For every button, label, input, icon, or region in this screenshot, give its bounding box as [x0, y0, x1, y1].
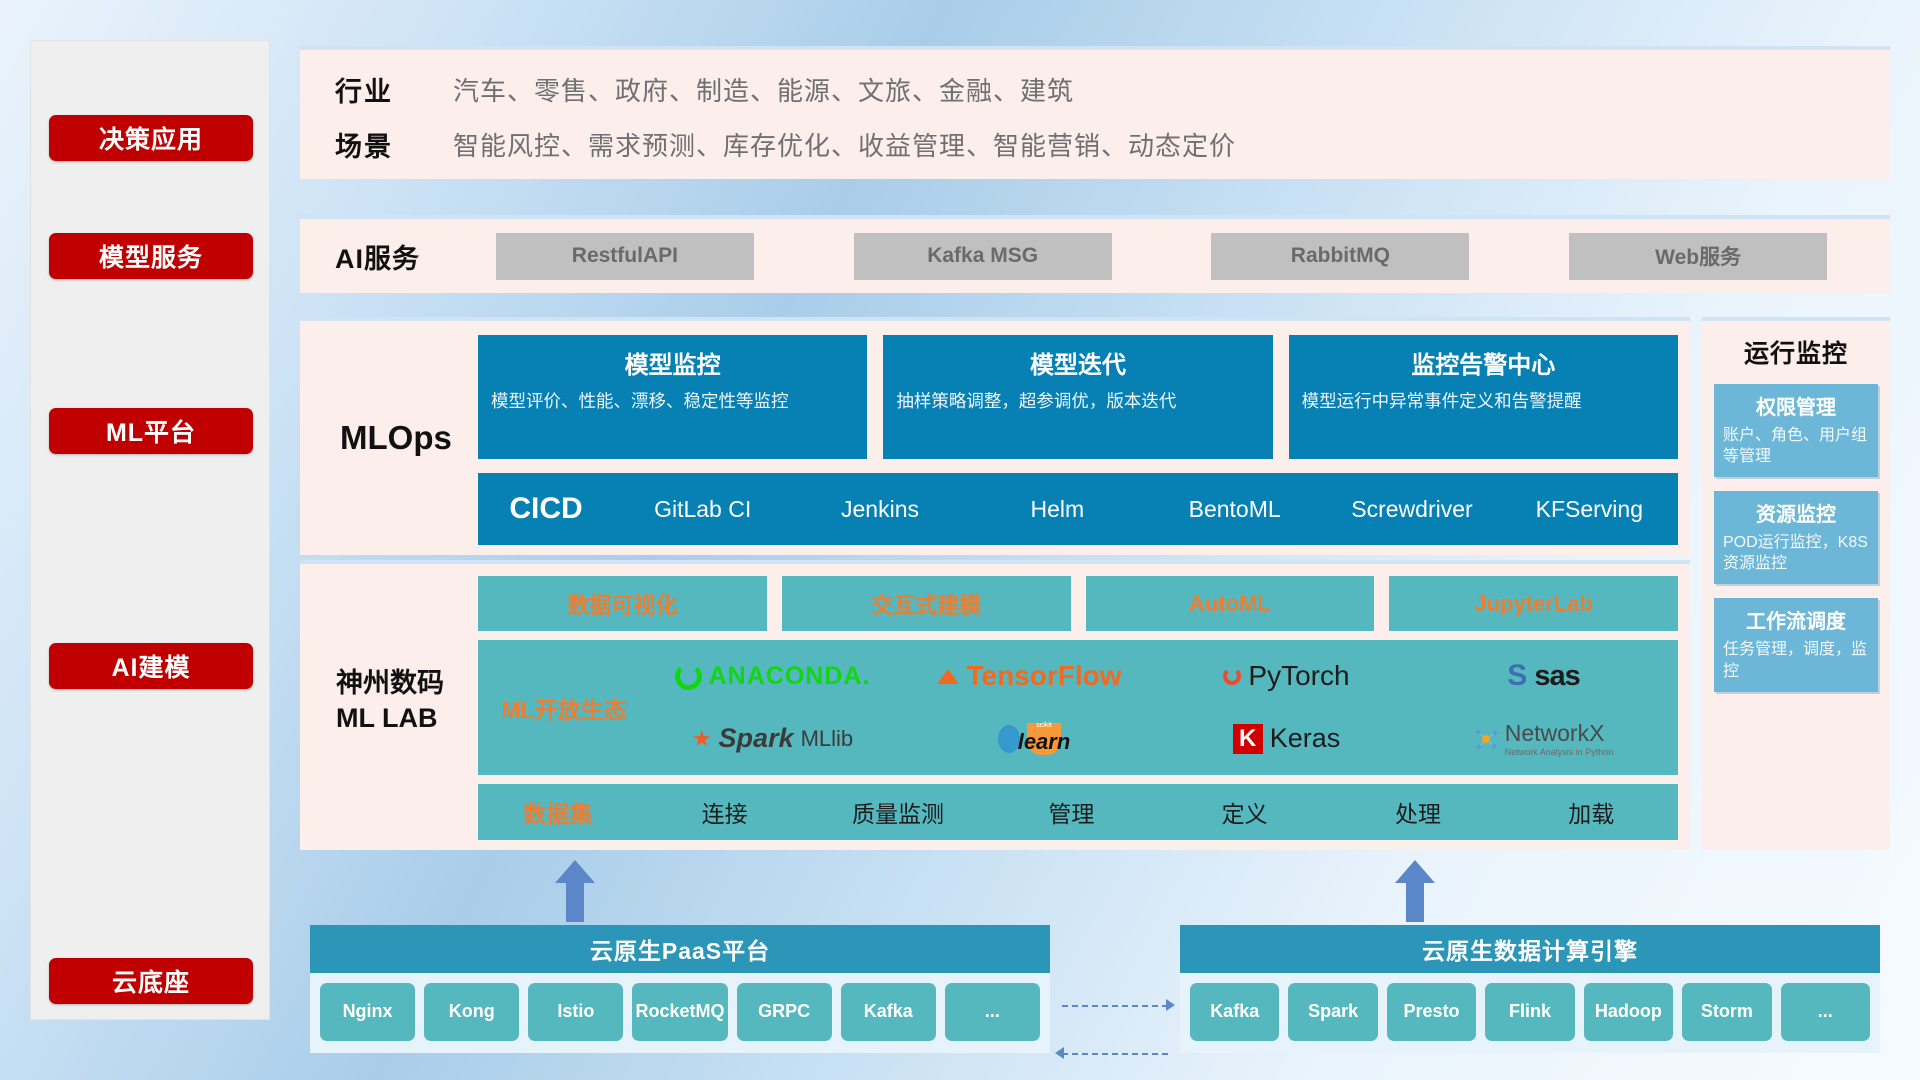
monitoring-card-permission[interactable]: 权限管理 账户、角色、用户组等管理: [1714, 384, 1878, 477]
keras-logo: K Keras: [1158, 723, 1415, 754]
anaconda-ring-icon: [675, 663, 702, 690]
pytorch-label: PyTorch: [1248, 660, 1349, 692]
dataset-item-connect[interactable]: 连接: [638, 795, 811, 829]
networkx-logo: NetworkX Network Analysis in Python: [1415, 720, 1672, 757]
sas-label: sas: [1534, 660, 1579, 693]
service-button-web[interactable]: Web服务: [1569, 233, 1827, 280]
scikit-learn-logo: scikit learn: [901, 723, 1158, 755]
ml-lab-label-line2: ML LAB: [336, 701, 444, 736]
tensorflow-label: TensorFlow: [966, 660, 1121, 692]
dataset-title: 数据集: [478, 795, 638, 829]
card-desc: 任务管理，调度，监控: [1723, 639, 1869, 681]
card-title: 模型监控: [491, 345, 854, 380]
paas-item-rocketmq[interactable]: RocketMQ: [632, 983, 727, 1041]
card-title: 权限管理: [1723, 391, 1869, 420]
arrow-up-compute-icon: [1395, 860, 1435, 922]
compute-item-flink[interactable]: Flink: [1485, 983, 1574, 1041]
card-title: 监控告警中心: [1302, 345, 1665, 380]
spark-mllib-logo: ★ Spark MLlib: [644, 723, 901, 754]
ai-service-buttons: RestfulAPI Kafka MSG RabbitMQ Web服务: [453, 233, 1890, 280]
tab-automl[interactable]: AutoML: [1086, 576, 1375, 631]
monitoring-card-workflow[interactable]: 工作流调度 任务管理，调度，监控: [1714, 598, 1878, 691]
networkx-sublabel: Network Analysis in Python: [1505, 747, 1614, 757]
scikit-small-label: scikit: [1036, 722, 1052, 729]
tab-interactive-modeling[interactable]: 交互式建模: [782, 576, 1071, 631]
scenario-value: 智能风控、需求预测、库存优化、收益管理、智能营销、动态定价: [453, 126, 1236, 163]
rail-item-model-service[interactable]: 模型服务: [49, 233, 253, 279]
networkx-graph-icon: [1474, 727, 1498, 751]
link-arrow-right-head-icon: [1166, 999, 1175, 1011]
anaconda-logo: ANACONDA.: [644, 662, 901, 691]
industry-scenario-panel: 行业 汽车、零售、政府、制造、能源、文旅、金融、建筑 场景 智能风控、需求预测、…: [300, 46, 1890, 179]
scikit-learn-label: learn: [1018, 729, 1071, 755]
service-button-kafka-msg[interactable]: Kafka MSG: [854, 233, 1112, 280]
architecture-diagram: 决策应用 模型服务 ML平台 AI建模 云底座 行业 汽车、零售、政府、制造、能…: [0, 0, 1920, 1080]
card-desc: 抽样策略调整，超参调优，版本迭代: [896, 389, 1259, 413]
anaconda-label: ANACONDA.: [709, 662, 871, 691]
card-desc: 模型运行中异常事件定义和告警提醒: [1302, 389, 1665, 413]
cicd-item-kfserving[interactable]: KFServing: [1501, 497, 1678, 521]
monitoring-title: 运行监控: [1702, 334, 1890, 370]
paas-item-kong[interactable]: Kong: [424, 983, 519, 1041]
rail-item-cloud-base[interactable]: 云底座: [49, 958, 253, 1004]
paas-item-grpc[interactable]: GRPC: [737, 983, 832, 1041]
paas-platform-title: 云原生PaaS平台: [310, 925, 1050, 973]
cicd-item-screwdriver[interactable]: Screwdriver: [1323, 497, 1500, 521]
arrow-up-paas-icon: [555, 860, 595, 922]
sas-swoosh-icon: S: [1507, 659, 1527, 693]
ml-ecosystem-label: ML开放生态: [484, 645, 644, 770]
link-arrow-left: [1062, 1053, 1168, 1055]
mllib-label: MLlib: [801, 726, 854, 752]
compute-item-hadoop[interactable]: Hadoop: [1584, 983, 1673, 1041]
scenario-label: 场景: [335, 125, 453, 164]
spark-star-icon: ★: [692, 726, 712, 752]
runtime-monitoring-panel: 运行监控 权限管理 账户、角色、用户组等管理 资源监控 POD运行监控，K8S资…: [1702, 317, 1890, 850]
paas-item-more[interactable]: ...: [945, 983, 1040, 1041]
mlops-label: MLOps: [340, 419, 452, 457]
cicd-item-helm[interactable]: Helm: [969, 497, 1146, 521]
industry-value: 汽车、零售、政府、制造、能源、文旅、金融、建筑: [453, 71, 1074, 108]
card-desc: 模型评价、性能、漂移、稳定性等监控: [491, 389, 854, 413]
dataset-item-load[interactable]: 加载: [1505, 795, 1678, 829]
dataset-item-quality[interactable]: 质量监测: [811, 795, 984, 829]
scikit-blue-icon: [998, 725, 1020, 753]
mlops-card-model-iteration[interactable]: 模型迭代 抽样策略调整，超参调优，版本迭代: [883, 335, 1272, 459]
ml-lab-content: 数据可视化 交互式建模 AutoML JupyterLab ML开放生态 ANA…: [478, 576, 1678, 840]
service-button-rabbitmq[interactable]: RabbitMQ: [1211, 233, 1469, 280]
compute-item-spark[interactable]: Spark: [1288, 983, 1377, 1041]
mlops-card-model-monitoring[interactable]: 模型监控 模型评价、性能、漂移、稳定性等监控: [478, 335, 867, 459]
data-compute-title: 云原生数据计算引擎: [1180, 925, 1880, 973]
dataset-item-process[interactable]: 处理: [1331, 795, 1504, 829]
pytorch-logo: PyTorch: [1158, 660, 1415, 692]
card-title: 工作流调度: [1723, 605, 1869, 634]
paas-item-nginx[interactable]: Nginx: [320, 983, 415, 1041]
paas-item-kafka[interactable]: Kafka: [841, 983, 936, 1041]
cicd-item-list: GitLab CI Jenkins Helm BentoML Screwdriv…: [614, 497, 1678, 521]
pytorch-flame-icon: [1223, 667, 1241, 685]
card-title: 模型迭代: [896, 345, 1259, 380]
data-compute-block: 云原生数据计算引擎 Kafka Spark Presto Flink Hadoo…: [1180, 925, 1880, 1053]
spark-label: Spark: [719, 723, 794, 754]
ml-lab-tabs: 数据可视化 交互式建模 AutoML JupyterLab: [478, 576, 1678, 631]
monitoring-card-resource[interactable]: 资源监控 POD运行监控，K8S资源监控: [1714, 491, 1878, 584]
dataset-bar: 数据集 连接 质量监测 管理 定义 处理 加载: [478, 784, 1678, 840]
left-rail: 决策应用 模型服务 ML平台 AI建模 云底座: [30, 40, 270, 1020]
service-button-restfulapi[interactable]: RestfulAPI: [496, 233, 754, 280]
cicd-item-gitlab-ci[interactable]: GitLab CI: [614, 497, 791, 521]
compute-item-storm[interactable]: Storm: [1682, 983, 1771, 1041]
ml-ecosystem-logos: ANACONDA. TensorFlow PyTorch S sas: [644, 645, 1672, 770]
card-title: 资源监控: [1723, 498, 1869, 527]
rail-item-ml-platform[interactable]: ML平台: [49, 408, 253, 454]
ai-service-label: AI服务: [335, 237, 453, 276]
cicd-bar: CICD GitLab CI Jenkins Helm BentoML Scre…: [478, 473, 1678, 545]
mlops-card-list: 模型监控 模型评价、性能、漂移、稳定性等监控 模型迭代 抽样策略调整，超参调优，…: [478, 335, 1678, 459]
ml-lab-label-line1: 神州数码: [336, 666, 444, 701]
ai-service-panel: AI服务 RestfulAPI Kafka MSG RabbitMQ Web服务: [300, 215, 1890, 293]
cicd-title: CICD: [478, 492, 614, 526]
dataset-item-list: 连接 质量监测 管理 定义 处理 加载: [638, 795, 1678, 829]
tab-jupyterlab[interactable]: JupyterLab: [1389, 576, 1678, 631]
mlops-panel: MLOps 模型监控 模型评价、性能、漂移、稳定性等监控 模型迭代 抽样策略调整…: [300, 317, 1690, 555]
cicd-item-jenkins[interactable]: Jenkins: [791, 497, 968, 521]
keras-label: Keras: [1270, 723, 1341, 754]
tensorflow-logo: TensorFlow: [901, 660, 1158, 692]
mlops-card-alert-center[interactable]: 监控告警中心 模型运行中异常事件定义和告警提醒: [1289, 335, 1678, 459]
rail-item-decision-app[interactable]: 决策应用: [49, 115, 253, 161]
compute-item-presto[interactable]: Presto: [1387, 983, 1476, 1041]
cicd-item-bentoml[interactable]: BentoML: [1146, 497, 1323, 521]
card-desc: 账户、角色、用户组等管理: [1723, 425, 1869, 467]
sas-logo: S sas: [1415, 659, 1672, 693]
link-arrow-left-head-icon: [1055, 1047, 1064, 1059]
tensorflow-arrow-icon: [937, 669, 959, 684]
rail-item-ai-modeling[interactable]: AI建模: [49, 643, 253, 689]
networkx-label: NetworkX: [1505, 720, 1614, 747]
compute-item-kafka[interactable]: Kafka: [1190, 983, 1279, 1041]
industry-row: 行业 汽车、零售、政府、制造、能源、文旅、金融、建筑: [335, 70, 1074, 109]
tab-data-visualization[interactable]: 数据可视化: [478, 576, 767, 631]
card-desc: POD运行监控，K8S资源监控: [1723, 532, 1869, 574]
ml-lab-panel: 神州数码 ML LAB 数据可视化 交互式建模 AutoML JupyterLa…: [300, 560, 1690, 850]
compute-item-more[interactable]: ...: [1781, 983, 1870, 1041]
paas-platform-block: 云原生PaaS平台 Nginx Kong Istio RocketMQ GRPC…: [310, 925, 1050, 1053]
ml-ecosystem: ML开放生态 ANACONDA. TensorFlow PyTorch: [478, 640, 1678, 775]
cloud-base-section: 云原生PaaS平台 Nginx Kong Istio RocketMQ GRPC…: [300, 860, 1890, 1060]
ml-lab-label: 神州数码 ML LAB: [336, 666, 444, 735]
keras-k-icon: K: [1233, 724, 1263, 754]
paas-item-istio[interactable]: Istio: [528, 983, 623, 1041]
data-compute-items: Kafka Spark Presto Flink Hadoop Storm ..…: [1180, 973, 1880, 1053]
dataset-item-manage[interactable]: 管理: [985, 795, 1158, 829]
scenario-row: 场景 智能风控、需求预测、库存优化、收益管理、智能营销、动态定价: [335, 125, 1236, 164]
scikit-orange-icon: scikit learn: [1027, 723, 1061, 755]
paas-platform-items: Nginx Kong Istio RocketMQ GRPC Kafka ...: [310, 973, 1050, 1053]
link-arrow-right: [1062, 1005, 1168, 1007]
industry-label: 行业: [335, 70, 453, 109]
dataset-item-define[interactable]: 定义: [1158, 795, 1331, 829]
